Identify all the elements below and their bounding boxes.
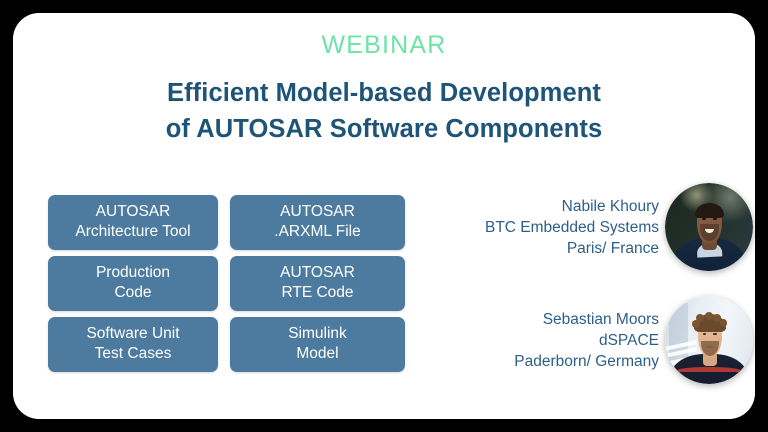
artifact-box-line2: RTE Code [281,283,353,303]
speaker-location: Paris/ France [485,238,659,259]
speaker-company: dSPACE [514,330,659,351]
speaker-sebastian-moors: Sebastian Moors dSPACE Paderborn/ German… [413,296,753,384]
avatar [665,183,753,271]
speaker-location: Paderborn/ Germany [514,351,659,372]
artifact-box-production-code: Production Code [48,256,218,311]
artifact-box-line1: AUTOSAR [280,263,355,283]
avatar-hair [695,203,724,218]
speaker-nabile-khoury: Nabile Khoury BTC Embedded Systems Paris… [413,183,753,271]
avatar [665,296,753,384]
artifact-box-line1: Production [96,263,170,283]
artifact-box-autosar-architecture-tool: AUTOSAR Architecture Tool [48,195,218,250]
title-line-1: Efficient Model-based Development [13,75,755,111]
artifact-box-software-unit-test-cases: Software Unit Test Cases [48,317,218,372]
artifact-box-line2: Model [296,344,338,364]
artifact-box-autosar-rte-code: AUTOSAR RTE Code [230,256,405,311]
speaker-name: Nabile Khoury [485,196,659,217]
avatar-photo-sebastian-moors [665,296,753,384]
artifact-box-autosar-arxml-file: AUTOSAR .ARXML File [230,195,405,250]
avatar-hair-curl [692,320,700,328]
speaker-details: Sebastian Moors dSPACE Paderborn/ German… [514,309,665,372]
avatar-photo-nabile-khoury [665,183,753,271]
avatar-eye-right [713,333,717,335]
artifact-box-line2: Architecture Tool [75,222,190,242]
artifact-box-line2: Test Cases [95,344,172,364]
title-line-2: of AUTOSAR Software Components [13,111,755,147]
artifact-box-grid: AUTOSAR Architecture Tool AUTOSAR .ARXML… [48,195,403,372]
webinar-kicker: WEBINAR [13,33,755,58]
artifact-box-line1: Software Unit [86,324,179,344]
artifact-box-simulink-model: Simulink Model [230,317,405,372]
page-title: Efficient Model-based Development of AUT… [13,75,755,147]
speaker-company: BTC Embedded Systems [485,217,659,238]
avatar-hair-curl [705,312,713,320]
artifact-box-line1: AUTOSAR [96,202,171,222]
slide-card: WEBINAR Efficient Model-based Developmen… [13,13,755,419]
avatar-mouth [706,346,714,348]
artifact-box-line2: .ARXML File [274,222,360,242]
speaker-name: Sebastian Moors [514,309,659,330]
artifact-box-line2: Code [114,283,151,303]
artifact-box-line1: AUTOSAR [280,202,355,222]
avatar-jacket-trim [676,367,743,371]
avatar-hair-curl [720,319,728,327]
artifact-box-line1: Simulink [288,324,347,344]
slide-root: WEBINAR Efficient Model-based Developmen… [0,0,768,432]
speaker-details: Nabile Khoury BTC Embedded Systems Paris… [485,196,665,259]
